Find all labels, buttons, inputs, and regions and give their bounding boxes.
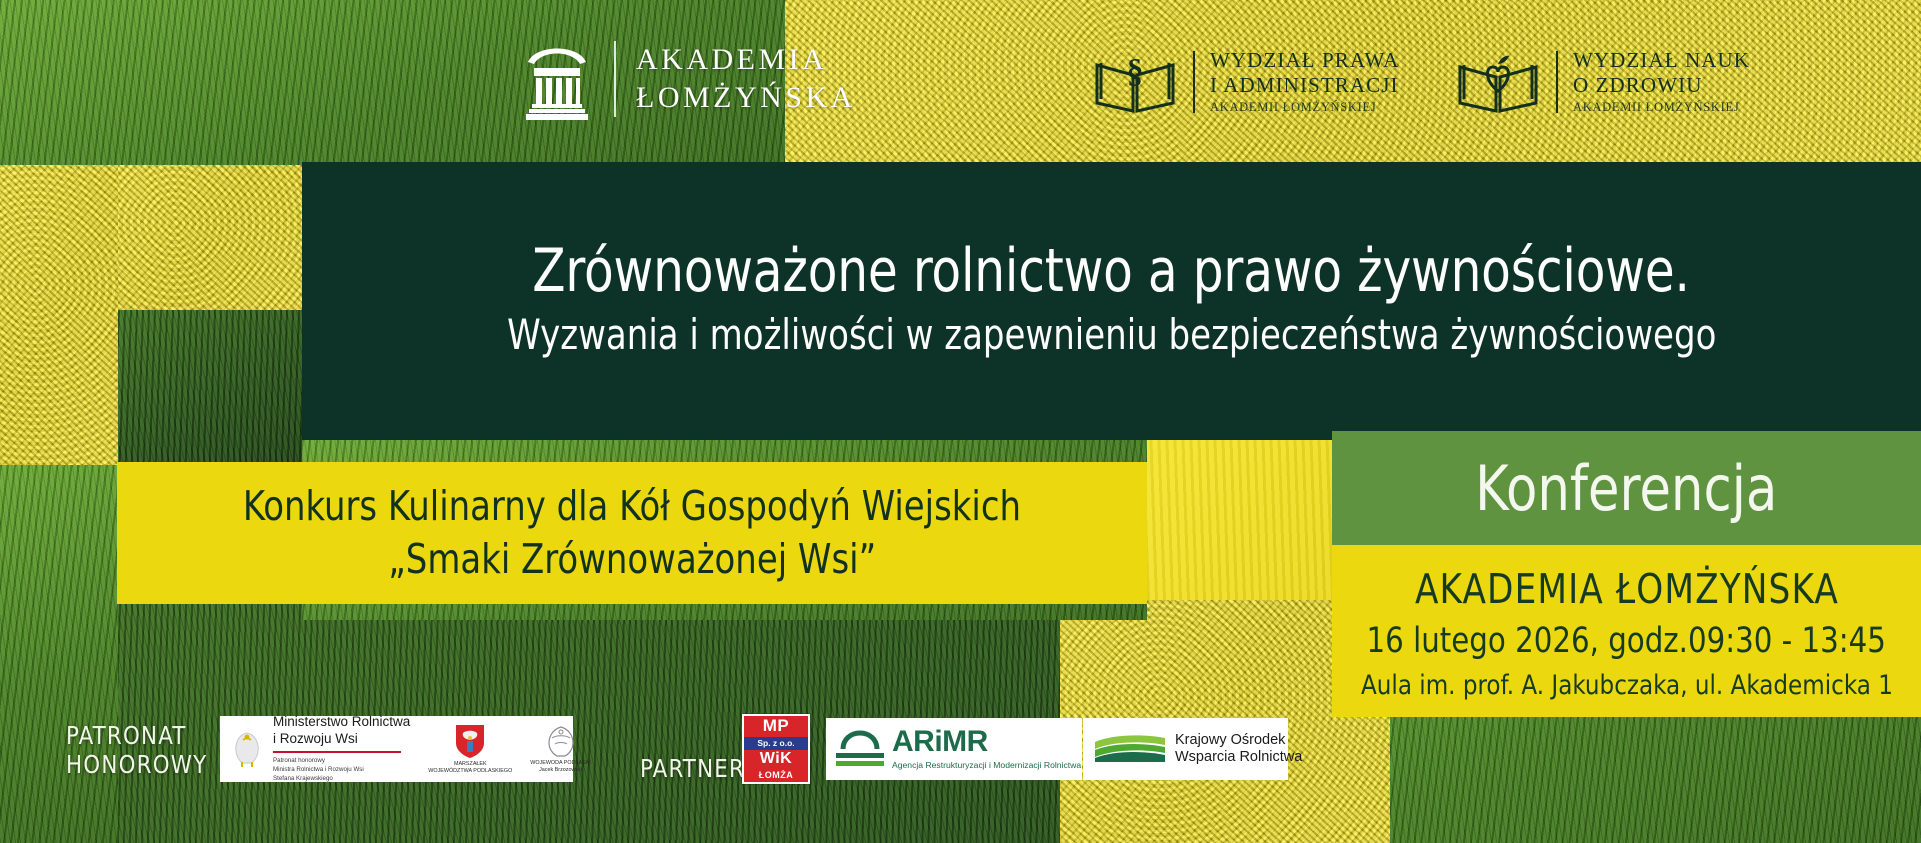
mpwik-line3: WiK [744,750,808,769]
arimr-arch-icon [834,730,886,768]
ministry-rule [273,751,401,753]
kowr-text-block: Krajowy Ośrodek Wsparcia Rolnictwa [1175,732,1302,767]
faculty-name-line2: O ZDROWIU [1573,73,1750,98]
arimr-name: ARiMR [892,728,1081,757]
logo-arimr: ARiMR Agencja Restrukturyzacji i Moderni… [826,718,1082,780]
faculty-parent-name: AKADEMII ŁOMŻYŃSKIEJ [1573,100,1750,115]
voivode-caption-line2: Jacek Brzozowski [530,767,591,774]
logo-wydzial-prawa-i-administracji: § WYDZIAŁ PRAWA I ADMINISTRACJI AKADEMII… [1092,48,1399,115]
photo-tile-rapeseed-left [0,165,118,465]
faculty-name-line1: WYDZIAŁ NAUK [1573,48,1750,73]
marshal-caption-line1: MARSZAŁEK [428,761,512,768]
faculty-name-line2: I ADMINISTRACJI [1210,73,1399,98]
page-subtitle: Wyzwania i możliwości w zapewnieniu bezp… [507,311,1716,358]
patronage-label: PATRONAT HONOROWY [66,722,207,779]
podlaskie-coat-of-arms-icon [454,723,486,759]
university-wordmark: AKADEMIA ŁOMŻYŃSKA [636,41,856,117]
contest-slogan: „Smaki Zrównoważonej Wsi” [388,533,876,586]
polish-eagle-icon [230,729,264,769]
faculty-wordmark: WYDZIAŁ PRAWA I ADMINISTRACJI AKADEMII Ł… [1210,48,1399,115]
partner-label: PARTNER [640,754,745,783]
logo-voivode-podlaski: WOJEWODA PODLASKI Jacek Brzozowski [530,724,591,774]
marshal-caption-line2: WOJEWÓDZTWA PODLASKIEGO [428,768,512,775]
polish-eagle-outline-icon [544,724,578,758]
logo-divider [614,41,616,117]
patronage-label-line2: HONOROWY [66,751,207,780]
marshal-caption: MARSZAŁEK WOJEWÓDZTWA PODLASKIEGO [428,761,512,775]
kowr-name-line2: Wsparcia Rolnictwa [1175,749,1302,766]
svg-text:§: § [1127,53,1144,90]
arimr-subtitle: Agencja Restrukturyzacji i Modernizacji … [892,760,1081,770]
ministry-name-line2: i Rozwoju Wsi [273,731,410,747]
logo-divider [1556,51,1558,113]
mpwik-logo-block: MP Sp. z o.o. WiK ŁOMŻA [742,714,810,784]
faculty-wordmark: WYDZIAŁ NAUK O ZDROWIU AKADEMII ŁOMŻYŃSK… [1573,48,1750,115]
open-book-heart-apple-icon [1455,49,1541,115]
voivode-caption: WOJEWODA PODLASKI Jacek Brzozowski [530,760,591,774]
culinary-contest-box: Konkurs Kulinarny dla Kół Gospodyń Wiejs… [117,462,1147,604]
ministry-caption-line1: Patronat honorowy [273,757,410,766]
logo-akademia-lomzynska: AKADEMIA ŁOMŻYŃSKA [520,36,856,122]
mpwik-line1: MP [744,716,808,737]
event-details-box: AKADEMIA ŁOMŻYŃSKA 16 lutego 2026, godz.… [1332,545,1921,717]
logo-mpwik-lomza: MP Sp. z o.o. WiK ŁOMŻA [742,714,810,784]
classical-portico-icon [520,36,594,122]
event-type-label: Konferencja [1475,452,1777,525]
arimr-text-block: ARiMR Agencja Restrukturyzacji i Moderni… [892,728,1081,770]
kowr-name-line1: Krajowy Ośrodek [1175,732,1302,749]
voivode-caption-line1: WOJEWODA PODLASKI [530,760,591,767]
logo-ministry-of-agriculture: Ministerstwo Rolnictwa i Rozwoju Wsi Pat… [220,716,573,782]
patronage-label-line1: PATRONAT [66,722,207,751]
logo-wydzial-nauk-o-zdrowiu: WYDZIAŁ NAUK O ZDROWIU AKADEMII ŁOMŻYŃSK… [1455,48,1750,115]
header-logo-row: AKADEMIA ŁOMŻYŃSKA § WYDZIAŁ PRAWA I ADM… [0,0,1921,162]
open-book-paragraph-icon: § [1092,49,1178,115]
logo-kowr: Krajowy Ośrodek Wsparcia Rolnictwa [1083,718,1288,780]
logo-divider [1193,51,1195,113]
page-title: Zrównoważone rolnictwo a prawo żywnościo… [533,238,1690,305]
university-name-line1: AKADEMIA [636,41,856,79]
faculty-parent-name: AKADEMII ŁOMŻYŃSKIEJ [1210,100,1399,115]
event-organizer: AKADEMIA ŁOMŻYŃSKA [1414,565,1838,613]
photo-tile-grass-leftbottom [0,465,118,843]
faculty-name-line1: WYDZIAŁ PRAWA [1210,48,1399,73]
photo-tile-grass-dark-left [118,310,308,465]
event-venue: Aula im. prof. A. Jakubczaka, ul. Akadem… [1361,670,1893,701]
ministry-name-line1: Ministerstwo Rolnictwa [273,714,410,730]
conference-banner: AKADEMIA ŁOMŻYŃSKA § WYDZIAŁ PRAWA I ADM… [0,0,1921,843]
kowr-wave-icon [1093,732,1167,766]
mpwik-line2: Sp. z o.o. [744,737,808,750]
logo-marshal-podlaskie: MARSZAŁEK WOJEWÓDZTWA PODLASKIEGO [428,723,512,775]
ministry-caption-line3: Stefana Krajewskiego [273,775,410,784]
university-name-line2: ŁOMŻYŃSKA [636,79,856,117]
ministry-text-block: Ministerstwo Rolnictwa i Rozwoju Wsi Pat… [273,714,410,784]
contest-title: Konkurs Kulinarny dla Kół Gospodyń Wiejs… [243,480,1021,533]
ministry-caption-line2: Ministra Rolnictwa i Rozwoju Wsi [273,766,410,775]
mpwik-line4: ŁOMŻA [744,769,808,782]
conference-title-band: Zrównoważone rolnictwo a prawo żywnościo… [302,162,1921,440]
event-type-banner: Konferencja [1332,431,1921,545]
photo-tile-rapeseed-left2 [118,165,308,310]
event-datetime: 16 lutego 2026, godz.09:30 - 13:45 [1367,621,1886,661]
